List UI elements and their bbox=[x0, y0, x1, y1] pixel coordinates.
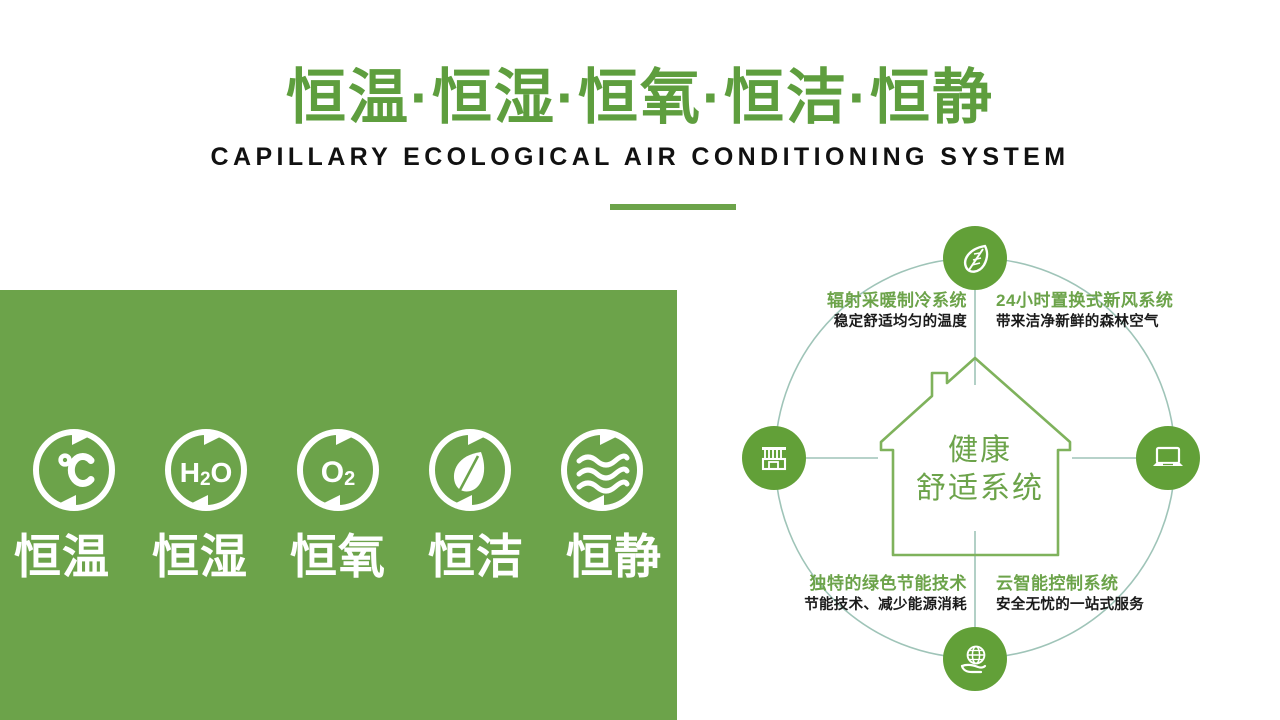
callout-title: 辐射采暖制冷系统 bbox=[752, 290, 967, 312]
temperature-celsius-icon bbox=[28, 424, 120, 516]
quiet-waves-icon bbox=[556, 424, 648, 516]
feature-icon-row: H2O O2 bbox=[28, 420, 648, 520]
callout-bottom-left: 独特的绿色节能技术 节能技术、减少能源消耗 bbox=[730, 573, 967, 615]
laptop-icon bbox=[1150, 440, 1186, 476]
system-circle-diagram: 健康 舒适系统 辐射采暖制冷系统 稳定舒适均匀的温度 24小时置换式新风系统 带… bbox=[700, 210, 1260, 710]
feature-label: 恒静 bbox=[566, 528, 662, 586]
storefront-icon bbox=[756, 440, 792, 476]
node-right-laptop[interactable] bbox=[1136, 426, 1200, 490]
humidity-h2o-icon: H2O bbox=[160, 424, 252, 516]
features-panel: H2O O2 bbox=[0, 290, 677, 720]
page-subtitle: CAPILLARY ECOLOGICAL AIR CONDITIONING SY… bbox=[0, 142, 1280, 172]
callout-title: 24小时置换式新风系统 bbox=[996, 290, 1226, 312]
callout-top-right: 24小时置换式新风系统 带来洁净新鲜的森林空气 bbox=[996, 290, 1226, 332]
oxygen-o2-icon: O2 bbox=[292, 424, 384, 516]
center-label-line2: 舒适系统 bbox=[882, 470, 1078, 508]
clean-leaf-icon bbox=[424, 424, 516, 516]
node-bottom-globe-in-hand[interactable] bbox=[943, 627, 1007, 691]
page-title: 恒温·恒湿·恒氧·恒洁·恒静 bbox=[0, 62, 1280, 134]
svg-text:O2: O2 bbox=[321, 456, 355, 490]
slide-canvas: 恒温·恒湿·恒氧·恒洁·恒静 CAPILLARY ECOLOGICAL AIR … bbox=[0, 0, 1280, 720]
callout-desc: 稳定舒适均匀的温度 bbox=[752, 312, 967, 332]
callout-desc: 节能技术、减少能源消耗 bbox=[730, 595, 967, 615]
leaf-icon bbox=[957, 240, 993, 276]
globe-in-hand-icon bbox=[957, 641, 993, 677]
svg-text:H2O: H2O bbox=[180, 457, 233, 490]
center-label: 健康 舒适系统 bbox=[882, 432, 1078, 508]
feature-label: 恒温 bbox=[14, 528, 110, 586]
center-label-line1: 健康 bbox=[882, 432, 1078, 470]
feature-label-row: 恒温 恒湿 恒氧 恒洁 恒静 bbox=[14, 528, 662, 586]
callout-top-left: 辐射采暖制冷系统 稳定舒适均匀的温度 bbox=[752, 290, 967, 332]
node-left-storefront[interactable] bbox=[742, 426, 806, 490]
feature-label: 恒氧 bbox=[290, 528, 386, 586]
feature-label: 恒洁 bbox=[428, 528, 524, 586]
header: 恒温·恒湿·恒氧·恒洁·恒静 CAPILLARY ECOLOGICAL AIR … bbox=[0, 0, 1280, 230]
feature-label: 恒湿 bbox=[152, 528, 248, 586]
callout-desc: 安全无忧的一站式服务 bbox=[996, 595, 1226, 615]
callout-bottom-right: 云智能控制系统 安全无忧的一站式服务 bbox=[996, 573, 1226, 615]
callout-title: 独特的绿色节能技术 bbox=[730, 573, 967, 595]
callout-title: 云智能控制系统 bbox=[996, 573, 1226, 595]
callout-desc: 带来洁净新鲜的森林空气 bbox=[996, 312, 1226, 332]
node-top-leaf[interactable] bbox=[943, 226, 1007, 290]
